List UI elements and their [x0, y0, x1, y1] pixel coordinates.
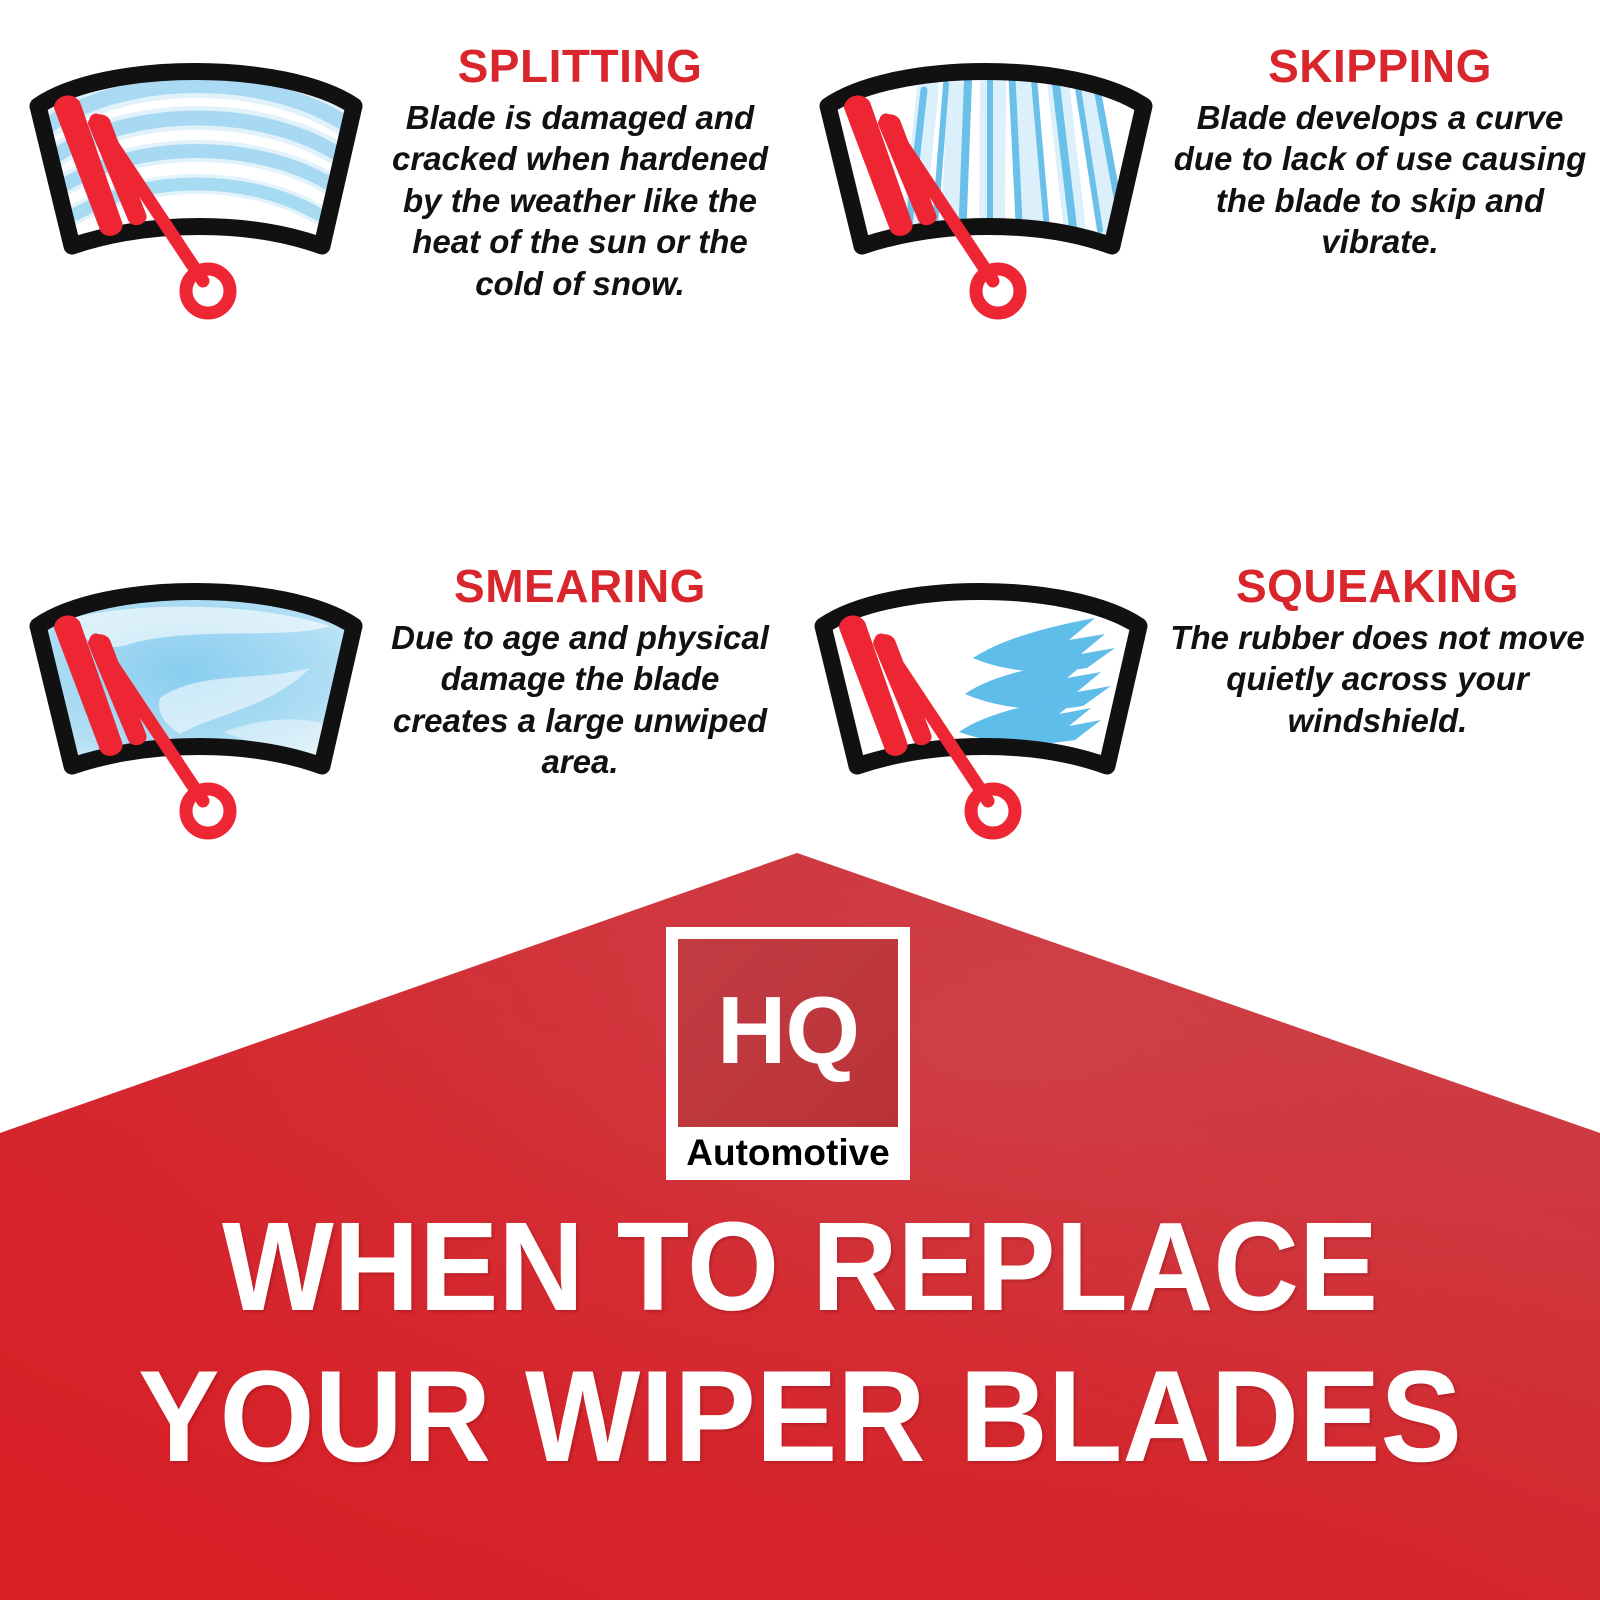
logo-red-square: HQ: [678, 939, 898, 1127]
panel-squeaking-title: SQUEAKING: [1165, 562, 1590, 611]
panel-splitting-description: Blade is damaged and cracked when harden…: [380, 97, 780, 305]
panel-smearing-title: SMEARING: [380, 562, 780, 611]
wiper-windshield-arcs-icon: [10, 28, 380, 328]
panel-squeaking: SQUEAKING The rubber does not move quiet…: [795, 548, 1590, 848]
wiper-windshield-zigzag-icon: [795, 548, 1165, 848]
panel-squeaking-text: SQUEAKING The rubber does not move quiet…: [1165, 548, 1590, 741]
panel-splitting: SPLITTING Blade is damaged and cracked w…: [10, 28, 780, 328]
hq-automotive-logo: HQ Automotive: [666, 927, 910, 1180]
panel-smearing: SMEARING Due to age and physical damage …: [10, 548, 780, 848]
panel-splitting-title: SPLITTING: [380, 42, 780, 91]
panel-smearing-text: SMEARING Due to age and physical damage …: [380, 548, 780, 783]
logo-subtitle: Automotive: [678, 1127, 898, 1174]
panel-skipping-description: Blade develops a curve due to lack of us…: [1170, 97, 1590, 263]
logo-hq-mark: HQ: [717, 983, 859, 1079]
panel-smearing-description: Due to age and physical damage the blade…: [380, 617, 780, 783]
panel-skipping-title: SKIPPING: [1170, 42, 1590, 91]
panel-splitting-text: SPLITTING Blade is damaged and cracked w…: [380, 28, 780, 305]
panel-skipping-text: SKIPPING Blade develops a curve due to l…: [1170, 28, 1590, 263]
panel-skipping: SKIPPING Blade develops a curve due to l…: [800, 28, 1590, 328]
symptoms-grid: SPLITTING Blade is damaged and cracked w…: [0, 0, 1600, 860]
headline-line-1: WHEN TO REPLACE: [48, 1205, 1552, 1330]
wiper-windshield-streaks-icon: [800, 28, 1170, 328]
panel-squeaking-description: The rubber does not move quietly across …: [1165, 617, 1590, 742]
headline-line-2: YOUR WIPER BLADES: [48, 1352, 1552, 1481]
headline: WHEN TO REPLACE YOUR WIPER BLADES: [0, 1205, 1600, 1480]
wiper-windshield-smear-icon: [10, 548, 380, 848]
